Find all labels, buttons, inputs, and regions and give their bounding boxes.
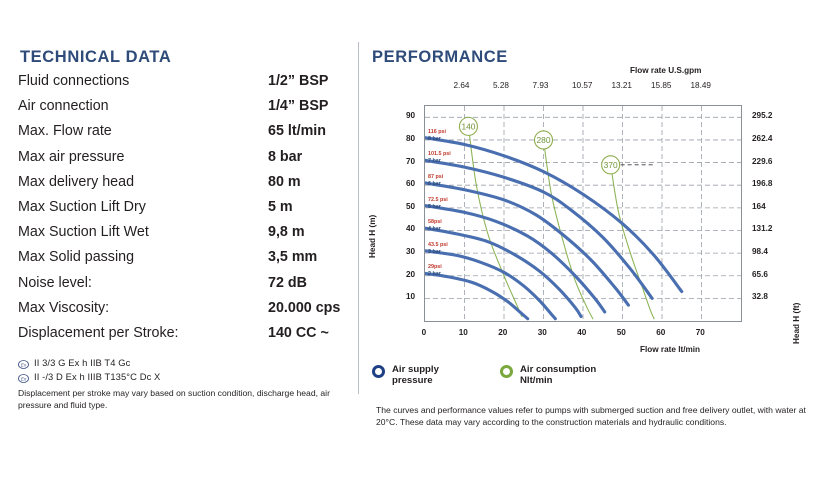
spec-value: 3,5 mm: [268, 249, 317, 265]
legend-item: Air supplypressure: [372, 364, 439, 387]
top-tick-label: 18.49: [691, 81, 712, 90]
left-tick-label: 30: [406, 247, 415, 256]
pressure-bar-label: 3 bar: [428, 249, 441, 255]
spec-row: Max Suction Lift Wet9,8 m: [18, 224, 348, 249]
spec-label: Max air pressure: [18, 149, 124, 165]
bottom-tick-label: 0: [422, 328, 427, 337]
right-axis-title: Head H (ft): [792, 303, 801, 344]
atex-marking-list: ExII 3/3 G Ex h IIB T4 GcExII -/3 D Ex h…: [18, 356, 348, 382]
technical-data-title: TECHNICAL DATA: [20, 48, 348, 67]
left-tick-label: 60: [406, 179, 415, 188]
top-tick-label: 5.28: [493, 81, 509, 90]
spec-label: Max Suction Lift Dry: [18, 199, 146, 215]
top-tick-label: 7.93: [533, 81, 549, 90]
top-tick-label: 13.21: [612, 81, 633, 90]
spec-label: Noise level:: [18, 275, 92, 291]
spec-row: Max Viscosity:20.000 cps: [18, 300, 348, 325]
spec-row: Max Suction Lift Dry5 m: [18, 199, 348, 224]
spec-value: 9,8 m: [268, 224, 305, 240]
pressure-psi-label: 29psi: [428, 264, 442, 270]
spec-row: Fluid connections1/2” BSP: [18, 73, 348, 98]
spec-value: 5 m: [268, 199, 293, 215]
left-tick-label: 70: [406, 157, 415, 166]
spec-value: 20.000 cps: [268, 300, 340, 316]
spec-label: Max delivery head: [18, 174, 134, 190]
pressure-psi-label: 72.5 psi: [428, 197, 448, 203]
section-divider: [358, 42, 359, 394]
top-tick-label: 10.57: [572, 81, 593, 90]
left-tick-label: 40: [406, 224, 415, 233]
pressure-psi-label: 116 psi: [428, 129, 446, 135]
left-axis-title: Head H (m): [368, 215, 377, 258]
spec-label: Displacement per Stroke:: [18, 325, 179, 341]
pressure-bar-label: 5 bar: [428, 204, 441, 210]
air-consumption-ring-icon: [500, 365, 513, 378]
pressure-bar-label: 8 bar: [428, 136, 441, 142]
legend-label-line1: Air consumption: [520, 364, 596, 375]
left-tick-label: 20: [406, 270, 415, 279]
spec-value: 140 CC ~: [268, 325, 329, 341]
performance-chart: Flow rate U.S.gpm Flow rate lt/min Head …: [372, 62, 824, 362]
spec-row: Air connection1/4” BSP: [18, 98, 348, 123]
spec-label: Max. Flow rate: [18, 123, 112, 139]
bottom-tick-label: 10: [459, 328, 468, 337]
svg-text:Ex: Ex: [21, 362, 27, 368]
pressure-bar-label: 4 bar: [428, 226, 441, 232]
spec-value: 1/2” BSP: [268, 73, 328, 89]
legend-item: Air consumptionNlt/min: [500, 364, 596, 387]
spec-value: 72 dB: [268, 275, 307, 291]
left-tick-label: 80: [406, 134, 415, 143]
technical-data-section: TECHNICAL DATA Fluid connections1/2” BSP…: [18, 48, 348, 411]
performance-note: The curves and performance values refer …: [376, 404, 828, 429]
pressure-psi-label: 87 psi: [428, 174, 443, 180]
right-tick-label: 65.6: [752, 270, 768, 279]
legend-label-line1: Air supply: [392, 364, 439, 375]
bottom-tick-label: 60: [656, 328, 665, 337]
legend-label: Air supplypressure: [392, 364, 439, 387]
bottom-tick-label: 40: [577, 328, 586, 337]
legend-label-line2: pressure: [392, 375, 439, 386]
spec-label: Fluid connections: [18, 73, 129, 89]
pressure-psi-label: 101.5 psi: [428, 151, 451, 157]
left-tick-label: 10: [406, 292, 415, 301]
right-tick-label: 131.2: [752, 224, 773, 233]
top-tick-label: 2.64: [454, 81, 470, 90]
bottom-tick-label: 50: [617, 328, 626, 337]
right-tick-label: 32.8: [752, 292, 768, 301]
displacement-note: Displacement per stroke may vary based o…: [18, 388, 338, 411]
air-supply-pressure-ring-icon: [372, 365, 385, 378]
bottom-axis-title: Flow rate lt/min: [640, 345, 700, 354]
spec-row: Max Solid passing3,5 mm: [18, 249, 348, 274]
top-tick-label: 15.85: [651, 81, 672, 90]
ex-marking-icon: Ex: [18, 357, 29, 368]
datasheet-page: TECHNICAL DATA Fluid connections1/2” BSP…: [0, 0, 835, 500]
spec-row: Max delivery head80 m: [18, 174, 348, 199]
svg-text:Ex: Ex: [21, 376, 27, 382]
bottom-tick-label: 20: [498, 328, 507, 337]
top-axis-title: Flow rate U.S.gpm: [630, 66, 701, 75]
right-tick-label: 164: [752, 202, 766, 211]
plot-area: 140280370 116 psi8 bar101.5 psi7 bar87 p…: [424, 105, 742, 322]
atex-row: ExII -/3 D Ex h IIIB T135°C Dc X: [18, 370, 348, 382]
air-consumption-bubble-label: 140: [461, 122, 475, 132]
spec-value: 1/4” BSP: [268, 98, 328, 114]
atex-row: ExII 3/3 G Ex h IIB T4 Gc: [18, 356, 348, 368]
legend-label: Air consumptionNlt/min: [520, 364, 596, 387]
pressure-bar-label: 6 bar: [428, 181, 441, 187]
spec-row: Max air pressure8 bar: [18, 149, 348, 174]
air-consumption-bubble-label: 280: [537, 135, 551, 145]
pressure-psi-label: 58psi: [428, 219, 442, 225]
spec-label: Max Solid passing: [18, 249, 134, 265]
right-tick-label: 196.8: [752, 179, 773, 188]
ex-marking-icon: Ex: [18, 371, 29, 382]
right-tick-label: 262.4: [752, 134, 773, 143]
atex-text: II -/3 D Ex h IIIB T135°C Dc X: [34, 371, 160, 382]
spec-value: 80 m: [268, 174, 301, 190]
spec-row: Max. Flow rate65 lt/min: [18, 123, 348, 148]
right-tick-label: 295.2: [752, 111, 773, 120]
legend-label-line2: Nlt/min: [520, 375, 596, 386]
right-tick-label: 229.6: [752, 157, 773, 166]
spec-value: 8 bar: [268, 149, 302, 165]
spec-label: Max Suction Lift Wet: [18, 224, 149, 240]
bottom-tick-label: 70: [696, 328, 705, 337]
spec-label: Max Viscosity:: [18, 300, 109, 316]
atex-text: II 3/3 G Ex h IIB T4 Gc: [34, 357, 130, 368]
left-tick-label: 50: [406, 202, 415, 211]
left-tick-label: 90: [406, 111, 415, 120]
spec-row: Displacement per Stroke:140 CC ~: [18, 325, 348, 350]
right-tick-label: 98.4: [752, 247, 768, 256]
air-consumption-bubble-label: 370: [604, 160, 618, 170]
bottom-tick-label: 30: [538, 328, 547, 337]
spec-value: 65 lt/min: [268, 123, 326, 139]
spec-row: Noise level:72 dB: [18, 275, 348, 300]
spec-label: Air connection: [18, 98, 109, 114]
pressure-psi-label: 43.5 psi: [428, 242, 448, 248]
pressure-bar-label: 2 bar: [428, 271, 441, 277]
specification-list: Fluid connections1/2” BSPAir connection1…: [18, 73, 348, 350]
pressure-bar-label: 7 bar: [428, 158, 441, 164]
